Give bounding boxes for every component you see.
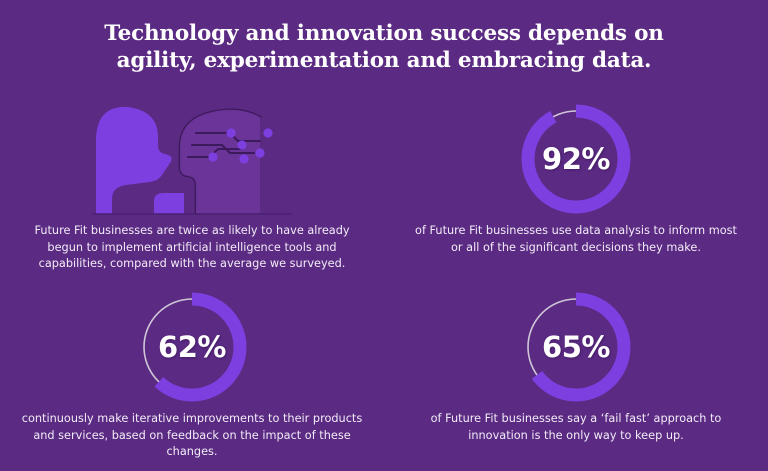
stat-caption-iterative-improvements: continuously make iterative improvements…	[0, 411, 384, 461]
stat-visual-data-analysis: 92%	[384, 95, 768, 223]
stat-cell-iterative-improvements: 62% continuously make iterative improvem…	[0, 283, 384, 461]
stat-visual-ai-adoption	[0, 95, 384, 223]
stats-grid: Future Fit businesses are twice as likel…	[0, 95, 768, 471]
stat-visual-fail-fast: 65%	[384, 283, 768, 411]
donut-chart-iterative-improvements: 62%	[136, 291, 248, 403]
donut-chart-fail-fast: 65%	[520, 291, 632, 403]
donut-value-label-data-analysis: 92%	[520, 103, 632, 215]
title-line-2: agility, experimentation and embracing d…	[40, 47, 728, 74]
donut-chart-data-analysis: 92%	[520, 103, 632, 215]
stat-cell-data-analysis: 92% of Future Fit businesses use data an…	[384, 95, 768, 256]
infographic-root: Technology and innovation success depend…	[0, 0, 768, 471]
stat-cell-fail-fast: 65% of Future Fit businesses say a ‘fail…	[384, 283, 768, 444]
ai-head-icon	[180, 110, 273, 214]
two-heads-ai-icon	[92, 103, 292, 215]
stat-visual-iterative-improvements: 62%	[0, 283, 384, 411]
title-line-1: Technology and innovation success depend…	[40, 20, 728, 47]
page-title: Technology and innovation success depend…	[0, 20, 768, 74]
stat-cell-ai-adoption: Future Fit businesses are twice as likel…	[0, 95, 384, 273]
donut-value-label-fail-fast: 65%	[520, 291, 632, 403]
stat-caption-ai-adoption: Future Fit businesses are twice as likel…	[0, 223, 384, 273]
human-head-icon	[96, 107, 184, 214]
stat-caption-fail-fast: of Future Fit businesses say a ‘fail fas…	[384, 411, 768, 444]
donut-value-label-iterative-improvements: 62%	[136, 291, 248, 403]
stat-caption-data-analysis: of Future Fit businesses use data analys…	[384, 223, 768, 256]
